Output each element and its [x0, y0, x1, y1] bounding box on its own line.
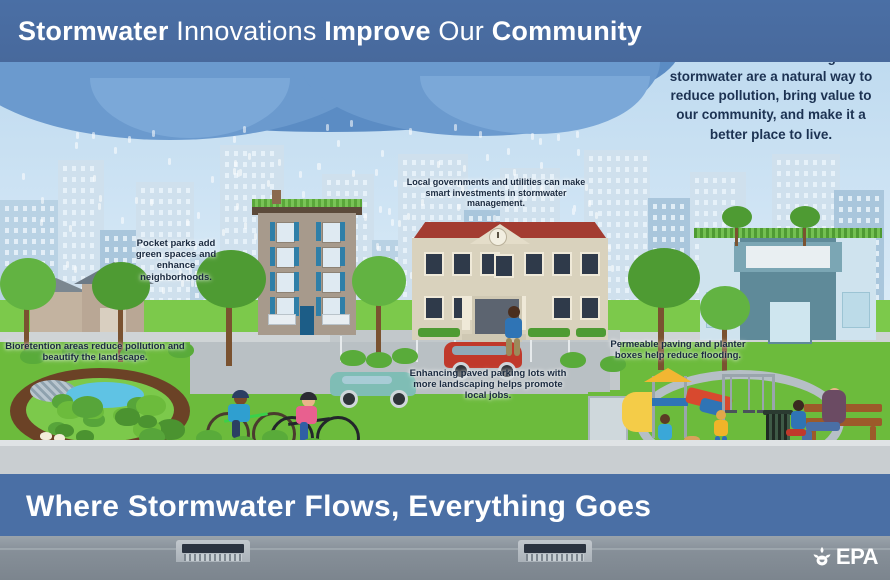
- skyline-window: [848, 218, 852, 223]
- skyline-window: [634, 156, 638, 161]
- chimney: [272, 190, 281, 204]
- apartment-window: [322, 222, 341, 243]
- callout-parking-lots: Enhancing paved parking lots with more l…: [404, 368, 572, 402]
- skyline-window: [731, 200, 735, 205]
- skyline-window: [643, 222, 647, 227]
- raindrop: [394, 180, 397, 187]
- skyline-window: [625, 167, 629, 172]
- skyline-window: [875, 207, 879, 212]
- raindrop: [278, 159, 281, 166]
- school-window: [580, 252, 600, 276]
- sedan-wheel: [340, 390, 358, 408]
- skyline-window: [643, 167, 647, 172]
- skyline-window: [786, 171, 790, 176]
- window-box: [322, 314, 350, 325]
- skyline-window: [713, 211, 717, 216]
- shrub: [366, 352, 392, 368]
- skyline-window: [786, 160, 790, 165]
- raindrop: [135, 197, 138, 204]
- skyline-window: [695, 178, 699, 183]
- raindrop: [398, 220, 401, 227]
- raindrop: [611, 265, 614, 272]
- callout-bioretention: Bioretention areas reduce pollution and …: [2, 341, 188, 363]
- school-window: [452, 252, 472, 276]
- skyline-window: [625, 244, 629, 249]
- apartment-window: [276, 272, 295, 293]
- skyline-window: [704, 200, 708, 205]
- swing-seat: [743, 410, 755, 413]
- epa-wordmark: EPA: [836, 544, 878, 570]
- skyline-window: [813, 182, 817, 187]
- commercial-entrance-door: [768, 300, 812, 344]
- raindrop: [463, 165, 466, 172]
- raindrop: [388, 208, 391, 215]
- raindrop: [577, 149, 580, 156]
- raindrop: [302, 191, 305, 198]
- school-window: [494, 254, 514, 278]
- minivan-window: [452, 346, 508, 355]
- skyline-window: [786, 193, 790, 198]
- raindrop: [152, 130, 155, 137]
- skyline-window: [662, 237, 666, 242]
- skyline-window: [777, 171, 781, 176]
- raindrop: [22, 173, 25, 180]
- skyline-window: [634, 178, 638, 183]
- raindrop: [128, 136, 131, 143]
- skyline-window: [866, 196, 870, 201]
- skyline-window: [695, 189, 699, 194]
- school-window: [424, 252, 444, 276]
- raindrop: [409, 128, 412, 135]
- school-window: [424, 296, 444, 320]
- skyline-window: [625, 178, 629, 183]
- skyline-window: [795, 171, 799, 176]
- window-shutter: [340, 272, 345, 291]
- raindrop: [608, 245, 611, 252]
- skyline-window: [625, 233, 629, 238]
- skyline-window: [795, 182, 799, 187]
- gutter-seam: [0, 548, 890, 550]
- apartment-window: [322, 272, 341, 293]
- raindrop: [114, 147, 117, 154]
- skyline-window: [671, 215, 675, 220]
- skyline-window: [680, 226, 684, 231]
- infographic-canvas: Solutions that manage stormwater are a n…: [0, 0, 890, 580]
- skyline-window: [822, 182, 826, 187]
- raindrop: [486, 154, 489, 161]
- skyline-window: [625, 222, 629, 227]
- title-segment: Our: [438, 16, 491, 46]
- raindrop: [317, 163, 320, 170]
- skyline-window: [662, 204, 666, 209]
- title-segment: Community: [492, 16, 642, 46]
- raindrop: [513, 169, 516, 176]
- raindrop: [93, 175, 96, 182]
- skyline-window: [822, 204, 826, 209]
- skyline-window: [731, 189, 735, 194]
- skyline-window: [813, 171, 817, 176]
- skyline-window: [875, 218, 879, 223]
- raindrop: [576, 131, 579, 138]
- skyline-window: [625, 189, 629, 194]
- skyline-window: [866, 207, 870, 212]
- skyline-window: [804, 182, 808, 187]
- skyline-window: [671, 226, 675, 231]
- skyline-window: [625, 288, 629, 293]
- skyline-window: [839, 196, 843, 201]
- swing-chain: [748, 376, 750, 410]
- skyline-window: [634, 200, 638, 205]
- skyline-window: [777, 215, 781, 220]
- skyline-window: [704, 178, 708, 183]
- skyline-window: [634, 189, 638, 194]
- swing-seat: [725, 410, 737, 413]
- window-shutter: [294, 272, 299, 291]
- window-shutter: [316, 247, 321, 266]
- raindrop: [121, 217, 124, 224]
- storm-drain: [176, 540, 250, 562]
- skyline-window: [634, 167, 638, 172]
- window-shutter: [316, 272, 321, 291]
- sidewalk: [0, 446, 890, 474]
- skyline-window: [804, 171, 808, 176]
- skyline-window: [671, 204, 675, 209]
- apartment-window: [276, 222, 295, 243]
- garden-shrub: [136, 395, 166, 416]
- apartment-window: [322, 247, 341, 268]
- window-box: [268, 314, 296, 325]
- raindrop: [364, 214, 367, 221]
- drain-opening: [182, 544, 244, 553]
- raindrop: [267, 180, 270, 187]
- hedge: [576, 328, 606, 337]
- skyline-window: [713, 189, 717, 194]
- skyline-window: [795, 193, 799, 198]
- skyline-window: [643, 244, 647, 249]
- shrub: [340, 350, 366, 366]
- raindrop: [233, 136, 236, 143]
- skyline-window: [795, 160, 799, 165]
- skyline-window: [713, 178, 717, 183]
- skyline-window: [695, 244, 699, 249]
- playground-pole: [652, 376, 655, 438]
- playground-pole: [684, 376, 687, 438]
- skyline-window: [634, 244, 638, 249]
- skyline-window: [625, 255, 629, 260]
- skyline-window: [722, 189, 726, 194]
- skyline-window: [662, 226, 666, 231]
- raindrop: [186, 219, 189, 226]
- skyline-window: [713, 200, 717, 205]
- raindrop: [76, 132, 79, 139]
- callout-local-government: Local governments and utilities can make…: [398, 177, 594, 209]
- intro-text: Solutions that manage stormwater are a n…: [662, 48, 880, 144]
- skyline-window: [704, 222, 708, 227]
- commercial-green-roof: [694, 228, 882, 238]
- drain-opening: [524, 544, 586, 553]
- play-deck: [648, 398, 688, 406]
- raindrop: [337, 140, 340, 147]
- skyline-window: [822, 193, 826, 198]
- skyline-window: [831, 171, 835, 176]
- raindrop: [540, 162, 543, 169]
- raindrop: [41, 197, 44, 204]
- storefront-glass: [842, 292, 870, 328]
- page-title: Stormwater Innovations Improve Our Commu…: [18, 16, 642, 47]
- window-shutter: [340, 247, 345, 266]
- hedge: [418, 328, 460, 337]
- swing-chain: [730, 376, 732, 410]
- window-shutter: [270, 247, 275, 266]
- window-shutter: [294, 247, 299, 266]
- school-window: [552, 252, 572, 276]
- title-segment: Stormwater: [18, 16, 176, 46]
- title-segment: Improve: [324, 16, 438, 46]
- raindrop: [211, 176, 214, 183]
- raindrop: [531, 133, 534, 140]
- shrub: [560, 352, 586, 368]
- skyline-window: [848, 207, 852, 212]
- raindrop: [407, 213, 410, 220]
- skyline-window: [722, 178, 726, 183]
- window-shutter: [316, 222, 321, 241]
- skyline-window: [643, 156, 647, 161]
- skyline-window: [680, 215, 684, 220]
- skyline-window: [662, 215, 666, 220]
- skyline-window: [777, 160, 781, 165]
- skyline-window: [643, 211, 647, 216]
- skyline-window: [786, 182, 790, 187]
- shrub: [392, 348, 418, 364]
- raindrop: [92, 132, 95, 139]
- skyline-window: [831, 182, 835, 187]
- raindrop: [234, 160, 237, 167]
- window-shutter: [316, 297, 321, 316]
- skyline-window: [822, 160, 826, 165]
- skyline-window: [695, 211, 699, 216]
- skyline-window: [643, 189, 647, 194]
- raindrop: [254, 233, 257, 240]
- skyline-window: [653, 204, 657, 209]
- raindrop: [239, 169, 242, 176]
- skyline-window: [704, 189, 708, 194]
- skyline-window: [643, 178, 647, 183]
- skyline-window: [731, 178, 735, 183]
- skyline-window: [822, 171, 826, 176]
- drain-grate: [184, 554, 242, 561]
- skyline-window: [680, 237, 684, 242]
- raindrop: [350, 120, 353, 127]
- skyline-window: [839, 218, 843, 223]
- skyline-window: [695, 200, 699, 205]
- raindrop: [326, 124, 329, 131]
- skyline-window: [875, 196, 879, 201]
- raindrop: [99, 195, 102, 202]
- school-window: [580, 296, 600, 320]
- skyline-window: [634, 233, 638, 238]
- skyline-window: [777, 182, 781, 187]
- store-sign: [746, 246, 830, 268]
- raindrop: [391, 219, 394, 226]
- garden-shrub: [72, 396, 103, 418]
- window-shutter: [294, 222, 299, 241]
- window-shutter: [270, 222, 275, 241]
- skyline-window: [857, 196, 861, 201]
- raindrop: [454, 124, 457, 131]
- slide-yellow: [622, 392, 652, 432]
- duck: [40, 432, 52, 440]
- raindrop: [69, 225, 72, 232]
- raindrop: [375, 169, 378, 176]
- skyline-window: [680, 204, 684, 209]
- skyline-window: [804, 160, 808, 165]
- skyline-window: [625, 156, 629, 161]
- raindrop: [150, 199, 153, 206]
- skyline-window: [839, 207, 843, 212]
- window-shutter: [340, 222, 345, 241]
- apartment-window: [276, 247, 295, 268]
- epa-seal-icon: [811, 545, 833, 569]
- raindrop: [40, 219, 43, 226]
- callout-permeable-paving: Permeable paving and planter boxes help …: [596, 339, 760, 361]
- raindrop: [248, 153, 251, 160]
- skyline-window: [695, 255, 699, 260]
- skyline-window: [857, 207, 861, 212]
- raindrop: [376, 243, 379, 250]
- skyline-window: [625, 200, 629, 205]
- skyline-window: [671, 237, 675, 242]
- skyline-window: [695, 222, 699, 227]
- helmet: [300, 392, 317, 400]
- raindrop: [244, 222, 247, 229]
- raindrop: [479, 131, 482, 138]
- callout-pocket-parks: Pocket parks add green spaces and enhanc…: [128, 238, 224, 283]
- skyline-window: [653, 237, 657, 242]
- banner-text: Where Stormwater Flows, Everything Goes: [26, 490, 651, 524]
- drain-grate: [526, 554, 584, 561]
- raindrop: [493, 215, 496, 222]
- helmet: [232, 390, 249, 398]
- skyline-window: [643, 200, 647, 205]
- raindrop: [233, 168, 236, 175]
- skyline-window: [831, 160, 835, 165]
- raindrop: [352, 170, 355, 177]
- raindrop: [75, 142, 78, 149]
- raindrop: [595, 212, 598, 219]
- column: [462, 296, 470, 330]
- skyline-window: [634, 211, 638, 216]
- title-segment: Innovations: [176, 16, 324, 46]
- skyline-window: [653, 215, 657, 220]
- raindrop: [162, 287, 165, 294]
- skyline-window: [786, 204, 790, 209]
- epa-logo: EPA: [811, 544, 878, 570]
- raindrop: [168, 158, 171, 165]
- swing-chain: [762, 376, 764, 410]
- skyline-window: [813, 193, 817, 198]
- skyline-window: [857, 218, 861, 223]
- raindrop: [66, 261, 69, 268]
- hedge: [528, 328, 570, 337]
- school-window: [524, 252, 544, 276]
- garden-shrub: [138, 415, 157, 428]
- raindrop: [197, 212, 200, 219]
- apartment-door: [300, 306, 314, 335]
- storm-drain: [518, 540, 592, 562]
- skyline-window: [804, 193, 808, 198]
- skyline-window: [653, 226, 657, 231]
- raindrop: [379, 206, 382, 213]
- skyline-window: [722, 200, 726, 205]
- raindrop: [381, 150, 384, 157]
- clock-icon: [489, 228, 507, 246]
- raindrop: [243, 126, 246, 133]
- raindrop: [74, 266, 77, 273]
- skyline-window: [822, 215, 826, 220]
- raindrop: [222, 229, 225, 236]
- skyline-window: [848, 196, 852, 201]
- window-shutter: [270, 272, 275, 291]
- raindrop: [437, 161, 440, 168]
- skyline-window: [713, 222, 717, 227]
- skyline-window: [625, 211, 629, 216]
- skyline-window: [813, 160, 817, 165]
- sedan-window: [342, 376, 392, 384]
- skyline-window: [866, 218, 870, 223]
- raindrop: [539, 138, 542, 145]
- street-gutter: [0, 536, 890, 580]
- skyline-window: [777, 193, 781, 198]
- skyline-window: [634, 222, 638, 227]
- raindrop: [299, 171, 302, 178]
- garden-shrub: [115, 408, 140, 426]
- raindrop: [236, 203, 239, 210]
- school-window: [552, 296, 572, 320]
- skyline-window: [777, 204, 781, 209]
- raindrop: [557, 134, 560, 141]
- skyline-window: [704, 211, 708, 216]
- raindrop: [507, 148, 510, 155]
- skyline-window: [643, 233, 647, 238]
- raindrop: [98, 203, 101, 210]
